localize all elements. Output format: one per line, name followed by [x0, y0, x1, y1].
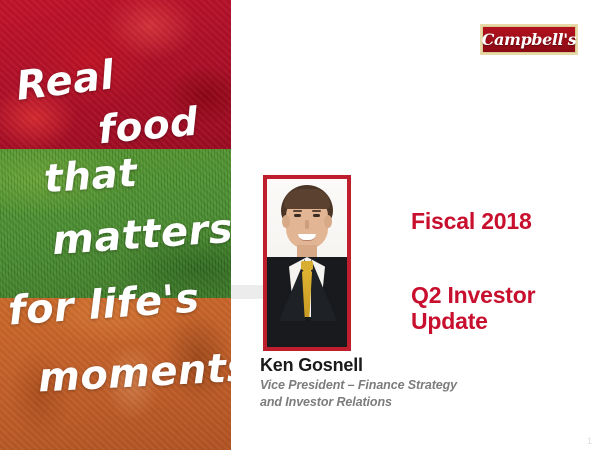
title-quarter-line1: Q2 Investor [411, 282, 593, 309]
slide-title-block: Fiscal 2018 Q2 Investor Update [411, 209, 593, 335]
presenter-block: Ken Gosnell Vice President – Finance Str… [260, 355, 550, 411]
photo-tie-knot [301, 261, 313, 270]
presenter-name: Ken Gosnell [260, 355, 550, 376]
title-quarter-line2: Update [411, 309, 593, 334]
photo-hair-fringe [284, 189, 330, 209]
campbells-logo-plate: Campbell's [482, 26, 576, 53]
photo-eyebrow-right [312, 210, 321, 212]
campbells-logo: Campbell's [480, 24, 578, 55]
presentation-slide: Real food that matters for life's moment… [0, 0, 600, 450]
brand-band-orange [0, 298, 231, 450]
presenter-title-line2: and Investor Relations [260, 395, 550, 411]
brand-band-red [0, 0, 231, 149]
campbells-logo-text: Campbell's [482, 32, 577, 48]
presenter-photo-frame [263, 175, 351, 351]
title-fiscal-year: Fiscal 2018 [411, 209, 593, 234]
page-number: 1 [587, 437, 592, 446]
brand-band-green [0, 149, 231, 298]
photo-ear-right [324, 215, 332, 228]
photo-ear-left [282, 215, 290, 228]
photo-eye-left [294, 214, 301, 217]
photo-eye-right [313, 214, 320, 217]
brand-panel: Real food that matters for life's moment… [0, 0, 231, 450]
presenter-title-line1: Vice President – Finance Strategy [260, 378, 550, 394]
presenter-photo [267, 179, 347, 347]
photo-nose [305, 220, 309, 229]
photo-eyebrow-left [293, 210, 302, 212]
